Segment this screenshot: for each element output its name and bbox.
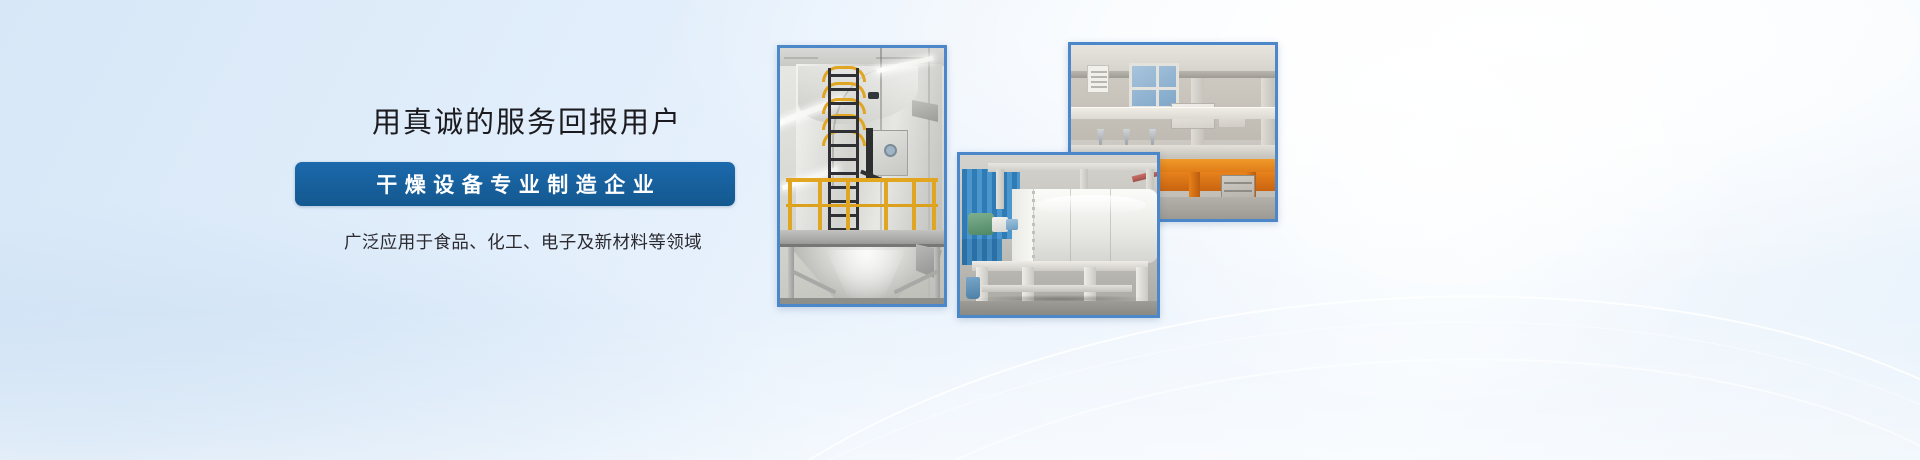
photo-spray-dryer-tower (777, 45, 947, 307)
mixer-drive-motor (968, 213, 994, 235)
banner-tagline-label: 干燥设备专业制造企业 (369, 169, 662, 199)
photo-ribbon-mixer (957, 152, 1160, 318)
banner-headline: 用真诚的服务回报用户 (307, 108, 747, 140)
banner-tagline-pill: 干燥设备专业制造企业 (295, 162, 735, 206)
photo-spray-dryer-content (780, 48, 944, 304)
banner-text-block: 用真诚的服务回报用户 干燥设备专业制造企业 广泛应用于食品、化工、电子及新材料等… (295, 108, 755, 254)
background-bottom-wash (0, 310, 1920, 460)
banner-subtitle: 广泛应用于食品、化工、电子及新材料等领域 (303, 229, 743, 254)
photo-ribbon-mixer-content (960, 155, 1157, 315)
hero-banner: 用真诚的服务回报用户 干燥设备专业制造企业 广泛应用于食品、化工、电子及新材料等… (0, 0, 1920, 460)
wall-poster (1087, 65, 1109, 93)
